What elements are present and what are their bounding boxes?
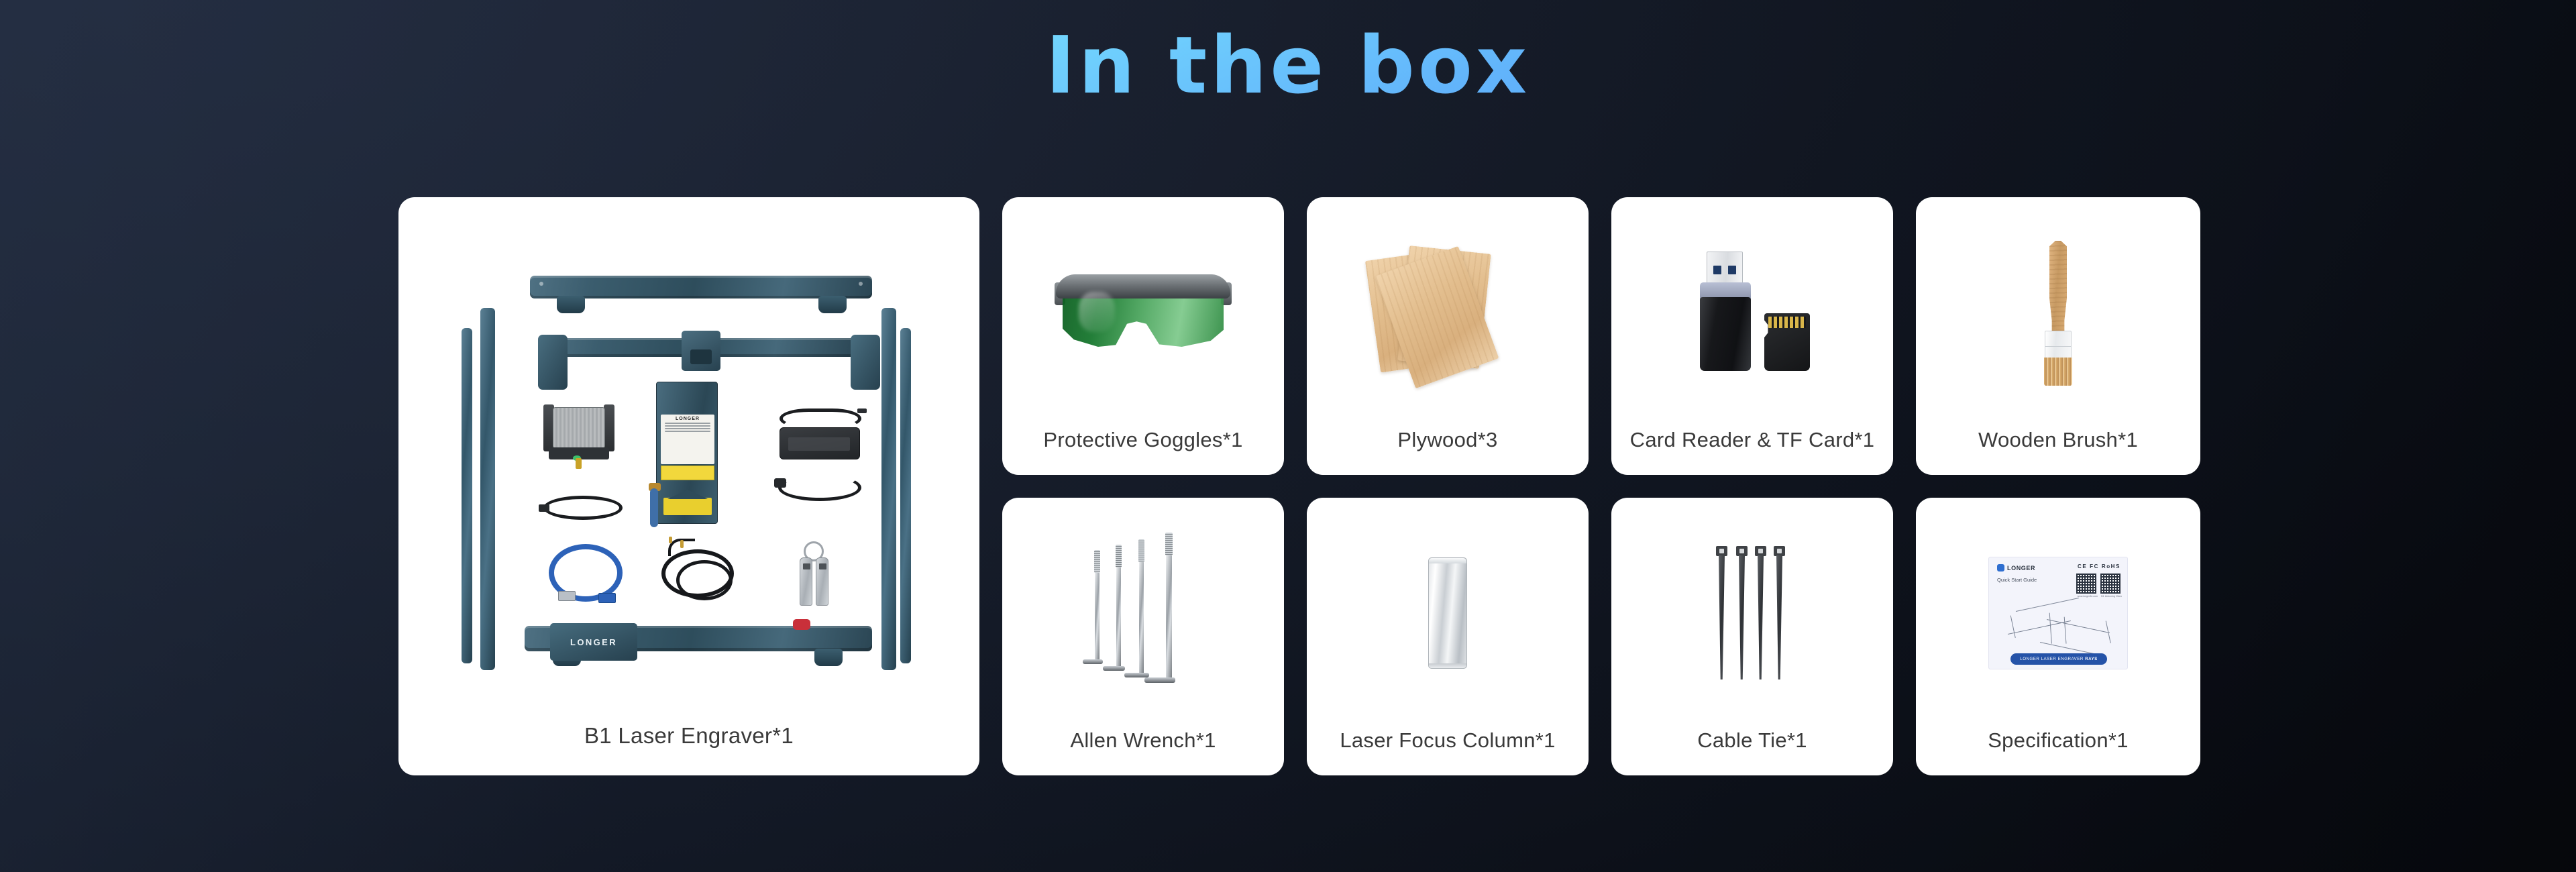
engraver-carriage [682,331,720,371]
item-label-plywood: Plywood*3 [1307,428,1589,475]
black-cable [543,496,623,520]
laser-head-aperture [663,498,712,515]
banner-prefix: LONGER LASER ENGRAVER [2020,657,2085,661]
laser-engraver-image: LONGER [398,197,979,723]
safety-key-2 [816,557,828,606]
safety-keys [793,541,836,608]
item-label-specification: Specification*1 [1916,728,2200,775]
wooden-brush-image [1916,197,2200,428]
engraver-foot-top-right [818,296,847,313]
brush-bristles [2044,358,2072,386]
item-card-protective-goggles[interactable]: Protective Goggles*1 [1002,197,1284,475]
item-card-card-reader[interactable]: Card Reader & TF Card*1 [1611,197,1893,475]
qr-caption-website: www.longer3d.com [2078,595,2098,598]
specification-image: LONGER Quick Start Guide CE FC RoHS www.… [1916,498,2200,728]
guide-brand: LONGER [1997,564,2035,571]
engraver-side-rail-right [881,308,896,670]
engraver-brand-logo: LONGER [570,637,617,647]
laser-warning-label [661,466,714,480]
goggles-brow-frame [1056,274,1230,298]
engraver-side-rail-left [480,308,495,670]
plywood-image [1307,197,1589,428]
items-grid: LONGER [398,197,2200,775]
power-adapter [780,427,860,459]
usb-connector-a [558,591,576,601]
ac-power-cord [778,474,861,501]
item-label-laser-engraver: B1 Laser Engraver*1 [398,723,979,775]
card-reader-image [1611,197,1893,428]
laser-module-nozzle [576,458,582,469]
laser-module-bracket-right [604,404,614,451]
item-label-wooden-brush: Wooden Brush*1 [1916,428,2200,475]
banner-model: RAYS [2085,657,2098,661]
engraver-top-rail [530,276,872,298]
laser-head-brand: LONGER [661,417,714,421]
goggles-lens-highlight [1079,292,1115,332]
laser-module-heatsink [553,407,605,449]
emergency-stop-button [793,619,810,630]
guide-title: Quick Start Guide [1997,577,2037,583]
item-card-allen-wrench[interactable]: Allen Wrench*1 [1002,498,1284,775]
engraver-gantry-end-right [851,335,880,390]
engraver-gantry-end-left [538,335,568,390]
laser-head-spec-label: LONGER [661,415,714,464]
item-label-cable-tie: Cable Tie*1 [1611,728,1893,775]
protective-goggles-image [1002,197,1284,428]
ac-plug [774,478,786,488]
item-card-laser-focus-column[interactable]: Laser Focus Column*1 [1307,498,1589,775]
item-label-allen-wrench: Allen Wrench*1 [1002,728,1284,775]
usb-connector [1707,252,1743,285]
guide-model-banner: LONGER LASER ENGRAVER RAYS [2010,653,2107,665]
guide-brand-name: LONGER [2007,565,2035,571]
dc-cable [780,408,861,429]
brush-ferrule [2045,331,2072,359]
item-label-card-reader: Card Reader & TF Card*1 [1611,428,1893,475]
cable-tie-image [1611,498,1893,728]
item-card-wooden-brush[interactable]: Wooden Brush*1 [1916,197,2200,475]
engraver-line-diagram [2005,602,2114,650]
air-assist-hose [650,488,658,527]
tf-card-contacts [1768,317,1806,328]
allen-wrench-image [1002,498,1284,728]
item-label-protective-goggles: Protective Goggles*1 [1002,428,1284,475]
engraver-exploded-view: LONGER [431,229,947,698]
laser-module [543,403,614,470]
in-the-box-page: In the box [0,0,2576,872]
allen-wrench-set [1083,543,1203,683]
item-card-plywood[interactable]: Plywood*3 [1307,197,1589,475]
brush-handle [2049,241,2067,333]
quick-start-guide-cover: LONGER Quick Start Guide CE FC RoHS www.… [1988,557,2128,669]
engraver-foot-bottom-right [814,649,843,666]
goggles-illustration [1056,269,1230,356]
cable-tie-set [1712,546,1792,680]
qr-code-video-icon [2100,574,2121,594]
usb-connector-b [598,593,616,603]
tf-memory-card [1764,313,1810,371]
qr-caption-video: B1 Unboxing Video [2101,595,2122,598]
certification-marks: CE FC RoHS [2078,563,2121,569]
safety-key-1 [800,557,812,606]
engraver-foot-top-left [557,296,585,313]
card-reader-illustration [1678,249,1826,376]
wire-lead-2 [680,540,684,548]
focus-column-cylinder [1428,557,1467,669]
item-card-cable-tie[interactable]: Cable Tie*1 [1611,498,1893,775]
laser-signal-wire-coil [661,549,734,598]
engraver-side-rail-left-inner [462,328,472,663]
brush-illustration [2035,241,2082,384]
laser-focus-column-image [1307,498,1589,728]
engraver-side-rail-right-inner [900,328,911,663]
card-reader-body [1700,297,1751,371]
longer-logo-icon [1997,564,2004,571]
item-label-laser-focus-column: Laser Focus Column*1 [1307,728,1589,775]
dc-plug [857,408,867,413]
engraver-control-box: LONGER [550,623,637,661]
qr-code-website-icon [2076,574,2096,594]
plywood-stack [1367,246,1528,380]
laser-head-assembly: LONGER [656,382,718,524]
item-card-specification[interactable]: LONGER Quick Start Guide CE FC RoHS www.… [1916,498,2200,775]
item-card-laser-engraver[interactable]: LONGER [398,197,979,775]
usb-cable [549,544,623,602]
page-title: In the box [0,19,2576,112]
